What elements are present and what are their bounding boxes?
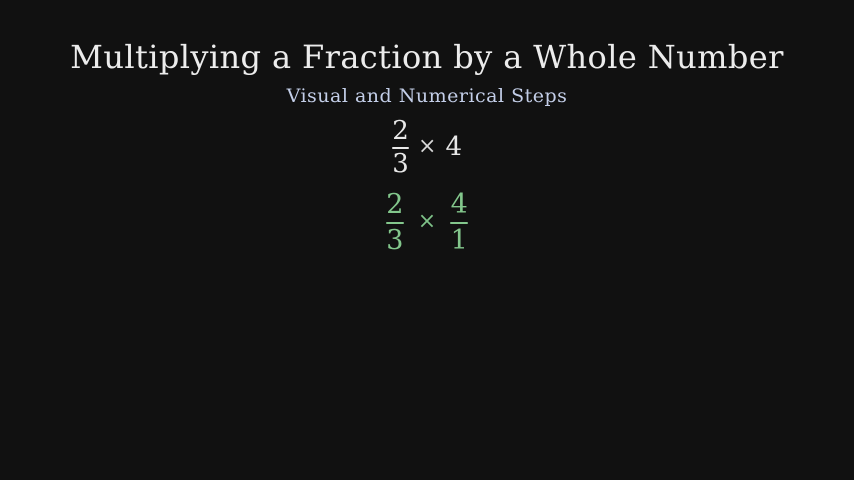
multiplication-sign-icon: × [409, 136, 445, 158]
converted-left-fraction: 2 3 [386, 191, 404, 254]
original-expression: 2 3 × 4 [0, 118, 854, 176]
converted-right-numerator: 4 [451, 191, 468, 222]
slide-canvas: Multiplying a Fraction by a Whole Number… [0, 0, 854, 480]
original-fraction: 2 3 [392, 118, 409, 177]
page-title: Multiplying a Fraction by a Whole Number [0, 40, 854, 75]
converted-right-fraction: 4 1 [450, 191, 468, 254]
converted-left-denominator: 3 [386, 224, 403, 254]
page-subtitle: Visual and Numerical Steps [0, 86, 854, 107]
original-fraction-denominator: 3 [392, 149, 409, 177]
multiplication-sign-icon: × [404, 211, 450, 233]
original-whole-number: 4 [445, 134, 462, 160]
converted-right-denominator: 1 [451, 224, 468, 254]
original-fraction-numerator: 2 [392, 118, 409, 147]
converted-expression: 2 3 × 4 1 [0, 186, 854, 258]
converted-left-numerator: 2 [386, 191, 403, 222]
